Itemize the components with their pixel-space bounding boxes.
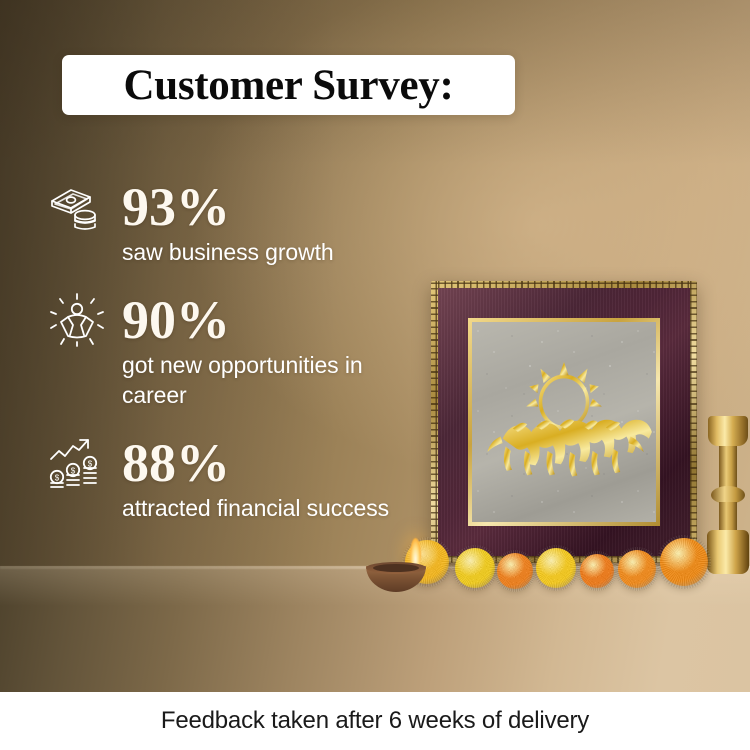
stat-row: 93% saw business growth <box>0 178 430 267</box>
promotional-infographic: Customer Survey: <box>0 0 750 750</box>
diya-oil-lamp <box>366 556 426 592</box>
frame-beaded-border <box>431 281 697 563</box>
page-title: Customer Survey: <box>123 64 453 107</box>
stat-percent: 90% <box>122 293 230 347</box>
svg-text:$: $ <box>71 467 76 476</box>
marigold-flower <box>580 554 614 588</box>
seven-horses-sun-art-icon <box>472 322 656 522</box>
stat-description: saw business growth <box>0 238 430 267</box>
money-stack-icon <box>46 178 108 236</box>
svg-text:$: $ <box>88 460 93 469</box>
artwork-canvas <box>472 322 656 522</box>
stand-base <box>707 530 749 574</box>
stat-description: got new opportunities in career <box>0 351 430 410</box>
stat-header: 90% <box>0 291 430 349</box>
brass-candle-stand <box>706 416 750 572</box>
title-banner: Customer Survey: <box>62 55 515 115</box>
stand-cup <box>708 416 748 446</box>
stat-row: 90% got new opportunities in career <box>0 291 430 410</box>
frame-gold-liner <box>468 318 660 526</box>
stat-description: attracted financial success <box>0 494 430 523</box>
marigold-flower <box>455 548 495 588</box>
growth-chart-coins-icon: $ $ $ <box>46 434 108 492</box>
marigold-flower <box>536 548 576 588</box>
stat-header: 93% <box>0 178 430 236</box>
diya-rim-inner <box>373 564 419 572</box>
stat-row: $ $ $ 88% attracted financial success <box>0 434 430 523</box>
statistics-list: 93% saw business growth <box>0 178 430 548</box>
marigold-flower <box>660 538 708 586</box>
confident-person-icon <box>46 291 108 349</box>
svg-text:$: $ <box>55 474 60 483</box>
stat-percent: 93% <box>122 180 230 234</box>
marigold-flower <box>497 553 533 589</box>
framed-artwork <box>431 281 697 563</box>
footer-bar: Feedback taken after 6 weeks of delivery <box>0 692 750 750</box>
stat-header: $ $ $ 88% <box>0 434 430 492</box>
frame-wood-molding <box>438 288 690 556</box>
marigold-flower <box>618 550 656 588</box>
stat-percent: 88% <box>122 436 230 490</box>
footer-caption: Feedback taken after 6 weeks of delivery <box>161 707 589 735</box>
